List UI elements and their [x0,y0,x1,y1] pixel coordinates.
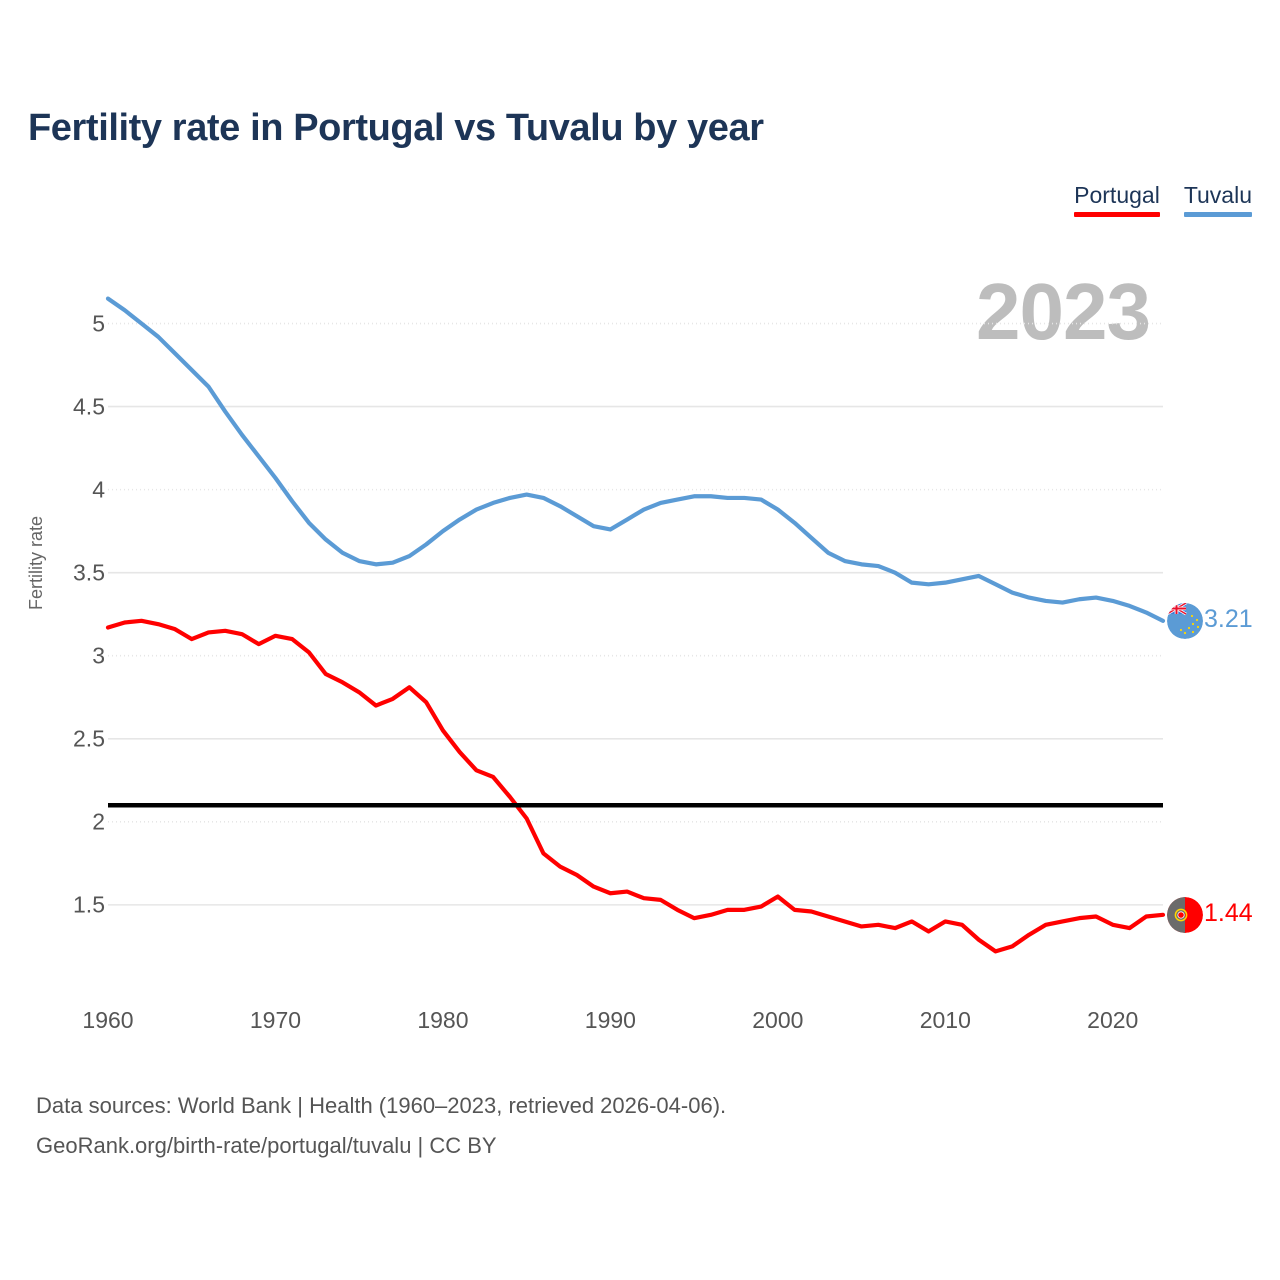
y-tick-label: 2.5 [73,725,105,752]
portugal-flag-icon[interactable] [1167,897,1203,933]
endpoint-value-tuvalu: 3.21 [1204,605,1253,634]
x-tick-label: 1980 [417,1007,468,1034]
x-tick-label: 1970 [250,1007,301,1034]
y-axis-title: Fertility rate [26,516,47,610]
footer-line-1: Data sources: World Bank | Health (1960–… [36,1086,726,1126]
chart-page: Fertility rate in Portugal vs Tuvalu by … [0,0,1280,1280]
footer-credits: Data sources: World Bank | Health (1960–… [36,1086,726,1166]
y-tick-label: 3 [92,642,105,669]
footer-line-2: GeoRank.org/birth-rate/portugal/tuvalu |… [36,1126,726,1166]
y-tick-label: 4.5 [73,393,105,420]
x-tick-label: 1990 [585,1007,636,1034]
y-tick-label: 5 [92,310,105,337]
y-tick-label: 4 [92,476,105,503]
x-tick-label: 2020 [1087,1007,1138,1034]
endpoint-value-portugal: 1.44 [1204,899,1253,928]
x-tick-label: 2010 [920,1007,971,1034]
x-tick-label: 1960 [82,1007,133,1034]
y-tick-label: 1.5 [73,891,105,918]
y-tick-label: 2 [92,808,105,835]
y-tick-label: 3.5 [73,559,105,586]
tuvalu-flag-icon[interactable] [1167,603,1203,639]
x-tick-label: 2000 [752,1007,803,1034]
